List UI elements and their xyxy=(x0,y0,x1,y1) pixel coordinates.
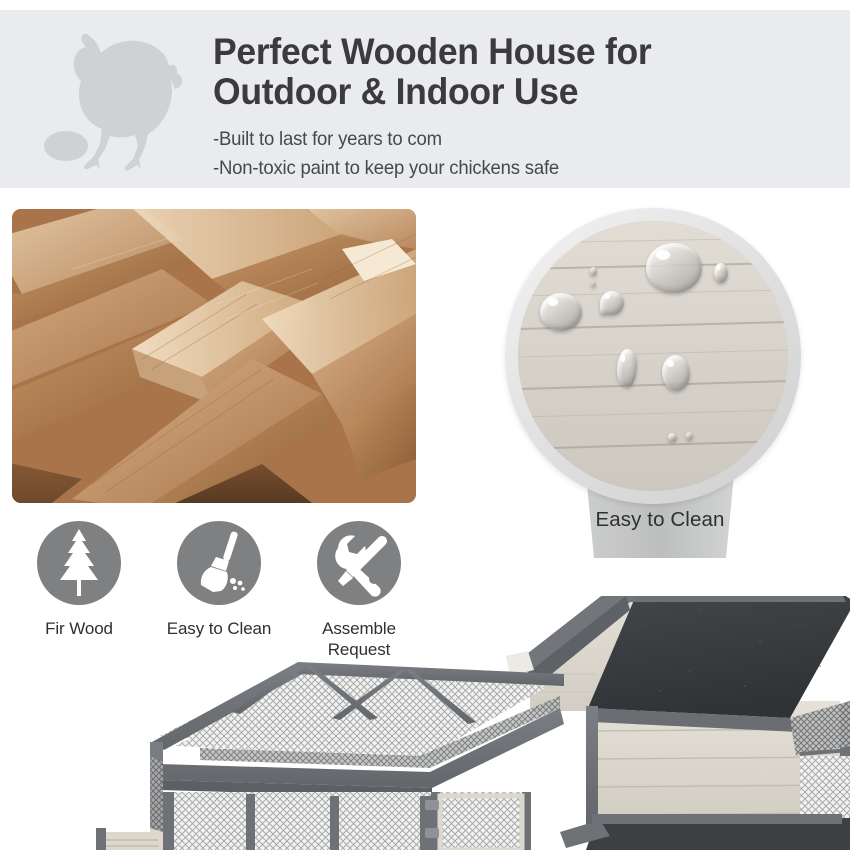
feature-circle xyxy=(317,521,401,605)
water-droplet xyxy=(540,293,582,331)
magnifier-lens-surface xyxy=(518,221,788,491)
water-droplet xyxy=(686,432,693,440)
broom-icon xyxy=(177,521,261,605)
water-droplet xyxy=(668,433,677,442)
chicken-silhouette-icon xyxy=(38,28,188,183)
page-title-line1: Perfect Wooden House for xyxy=(213,32,808,72)
chicken-coop-product xyxy=(0,596,850,850)
product-marketing-image: Perfect Wooden House for Outdoor & Indoo… xyxy=(0,0,850,850)
feature-circle xyxy=(177,521,261,605)
water-droplet xyxy=(600,291,624,315)
wood-beams-photo xyxy=(12,209,416,503)
feature-circle xyxy=(37,521,121,605)
fir-tree-icon xyxy=(37,521,121,605)
water-droplet xyxy=(662,355,690,391)
page-title-line2: Outdoor & Indoor Use xyxy=(213,72,808,112)
bullet-line-1: -Built to last for years to com xyxy=(213,125,802,154)
header-text-block: Perfect Wooden House for Outdoor & Indoo… xyxy=(213,32,833,183)
header-band: Perfect Wooden House for Outdoor & Indoo… xyxy=(0,10,850,188)
magnifier-callout: Easy to Clean xyxy=(470,208,850,558)
magnifier-lens-ring xyxy=(505,208,801,504)
water-droplet xyxy=(646,243,702,293)
bullet-line-2: -Non-toxic paint to keep your chickens s… xyxy=(213,154,802,183)
tools-icon xyxy=(317,521,401,605)
water-droplet xyxy=(714,263,728,283)
magnifier-caption: Easy to Clean xyxy=(470,508,850,532)
water-droplet xyxy=(591,281,596,287)
water-droplet xyxy=(590,267,597,276)
